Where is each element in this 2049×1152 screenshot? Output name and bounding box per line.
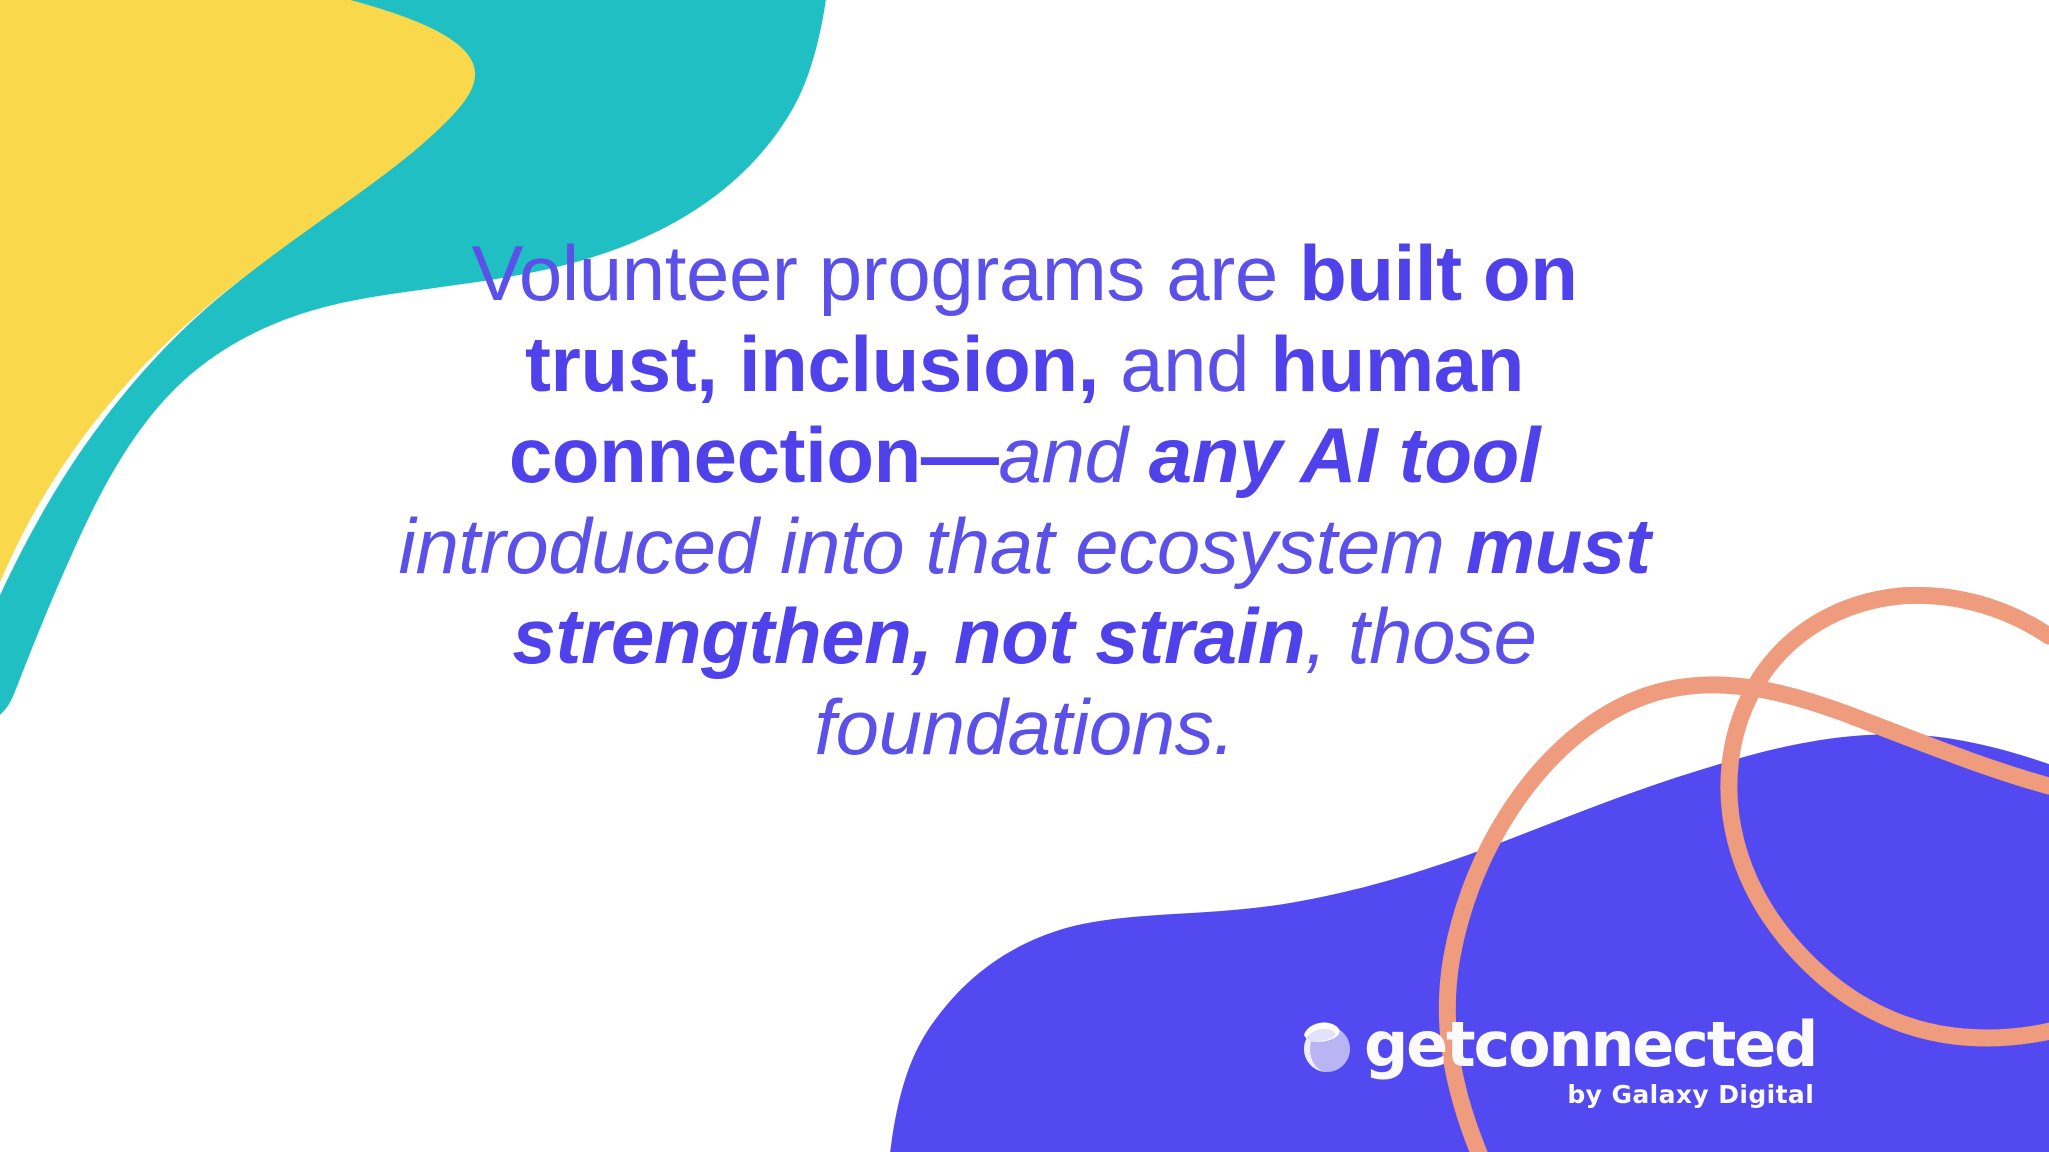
brand-logo[interactable]: getconnected by Galaxy Digital <box>1296 1014 1816 1109</box>
quote-run-6: and <box>999 411 1149 499</box>
quote-run-1: Volunteer programs are <box>472 229 1300 317</box>
quote-slide: Volunteer programs are built on trust, i… <box>0 0 2049 1152</box>
quote-run-7: any AI tool <box>1149 411 1540 499</box>
logo-tagline: by Galaxy Digital <box>1567 1080 1814 1109</box>
quote-run-5-emdash: — <box>921 411 999 499</box>
logo-row: getconnected <box>1296 1014 1816 1076</box>
logo-wordmark: getconnected <box>1364 1014 1816 1076</box>
quote-text: Volunteer programs are built on trust, i… <box>375 228 1675 773</box>
quote-run-3: and <box>1099 320 1270 408</box>
getconnected-globe-icon <box>1296 1016 1354 1074</box>
quote-run-8: introduced into that ecosystem <box>399 502 1466 590</box>
quote-container: Volunteer programs are built on trust, i… <box>0 0 2049 1152</box>
